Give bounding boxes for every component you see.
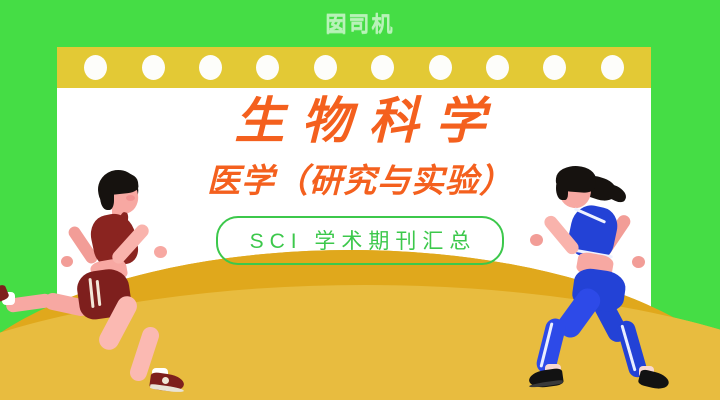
right-runner-hair-side (556, 176, 568, 200)
strip-hole (256, 55, 279, 80)
film-strip (57, 47, 651, 88)
strip-hole (543, 55, 566, 80)
poster-main-title: 生物科学 (0, 96, 720, 146)
strip-hole (142, 55, 165, 80)
left-runner-back-hand (61, 256, 73, 267)
status-badge: SCI 学术期刊汇总 (216, 216, 505, 265)
right-runner-front-hand (530, 234, 543, 246)
right-runner-ponytail-tip (601, 181, 629, 204)
strip-hole (199, 55, 222, 80)
watermark-text: 囡司机 (0, 8, 720, 38)
strip-hole (84, 55, 107, 80)
runner-right-figure (515, 160, 715, 385)
runner-left-figure (46, 168, 236, 383)
left-runner-shoe-logo (162, 377, 169, 384)
strip-hole (601, 55, 624, 80)
right-runner-back-hand (632, 256, 645, 268)
strip-hole (486, 55, 509, 80)
left-runner-front-hand (154, 246, 167, 258)
left-runner-cheek (126, 195, 135, 201)
strip-hole (429, 55, 452, 80)
poster-canvas: 生物科学 医学（研究与实验） SCI 学术期刊汇总 囡司机 (0, 0, 720, 400)
left-runner-hair-side (100, 182, 114, 210)
strip-hole (314, 55, 337, 80)
strip-hole (371, 55, 394, 80)
